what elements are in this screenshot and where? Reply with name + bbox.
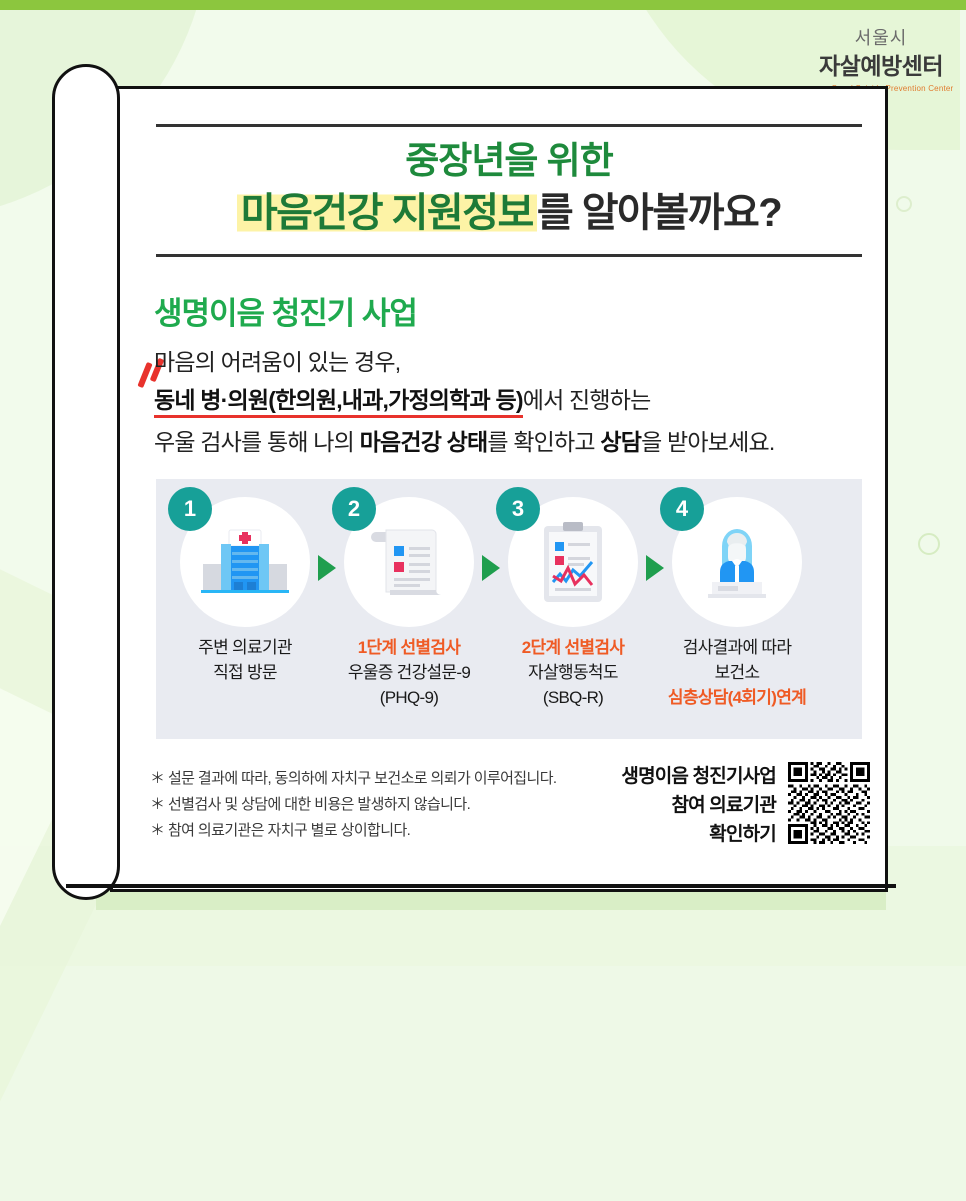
organization-logo: 서울시 자살예방센터 Seoul Suicide Prevention Cent…: [806, 24, 956, 93]
process-step-1: 1 주변 의료기관 직접 방문: [170, 495, 320, 727]
process-step-3: 3 2단계 선별검사 자살행동척도 (SBQ-R): [498, 495, 648, 727]
process-step-2: 2 1단계 선별검사 우울증 건강설문-9 (PHQ-9): [334, 495, 484, 727]
top-green-bar: [0, 0, 966, 10]
step-arrow-3-icon: [646, 555, 664, 581]
step-arrow-1-icon: [318, 555, 336, 581]
title-line-2: 마음건강 지원정보를 알아볼까요?: [156, 187, 862, 239]
process-step-4: 4 검사결과에 따라 보건소 심층상담(4회기)연계: [662, 495, 812, 727]
body-line-3-d: 상담: [600, 429, 641, 455]
step-2-caption: 1단계 선별검사 우울증 건강설문-9 (PHQ-9): [324, 635, 494, 710]
title-tail: 를 알아볼까요?: [537, 191, 781, 235]
footnote-2: ＊ 선별검사 및 상담에 대한 비용은 발생하지 않습니다.: [150, 792, 556, 818]
step-3-caption: 2단계 선별검사 자살행동척도 (SBQ-R): [488, 635, 658, 710]
step-3-caption-line-1: 2단계 선별검사: [488, 635, 658, 660]
step-2-caption-line-3: (PHQ-9): [324, 685, 494, 710]
step-4-caption-line-3: 심층상담(4회기)연계: [652, 685, 822, 710]
step-4-caption-line-2: 보건소: [652, 660, 822, 685]
body-line-2-strong: 동네 병·의원(한의원,내과,가정의학과 등): [154, 387, 523, 418]
footnote-1: ＊ 설문 결과에 따라, 동의하에 자치구 보건소로 의뢰가 이루어집니다.: [150, 766, 556, 792]
infographic-poster: 서울시 자살예방센터 Seoul Suicide Prevention Cent…: [0, 0, 966, 966]
title-rule-top: [156, 124, 862, 127]
step-4-caption-line-1: 검사결과에 따라: [652, 635, 822, 660]
step-4-number: 4: [660, 487, 704, 531]
step-1-number: 1: [168, 487, 212, 531]
title-rule-bottom: [156, 254, 862, 257]
body-line-3-a: 우울 검사를 통해 나의: [154, 429, 360, 455]
step-arrow-2-icon: [482, 555, 500, 581]
page-title: 중장년을 위한 마음건강 지원정보를 알아볼까요?: [156, 137, 862, 239]
qr-section[interactable]: 생명이음 청진기사업 참여 의료기관 확인하기: [600, 762, 870, 849]
process-steps-panel: 1 주변 의료기관 직접 방문: [156, 479, 862, 739]
title-highlight: 마음건강 지원정보: [237, 191, 537, 235]
bottom-rule: [66, 884, 896, 888]
body-line-3: 우울 검사를 통해 나의 마음건강 상태를 확인하고 상담을 받아보세요.: [154, 423, 774, 457]
footnotes: ＊ 설문 결과에 따라, 동의하에 자치구 보건소로 의뢰가 이루어집니다. ＊…: [150, 766, 556, 844]
body-line-2-rest: 에서 진행하는: [523, 387, 651, 413]
step-3-caption-line-3: (SBQ-R): [488, 685, 658, 710]
qr-label-line-3: 확인하기: [621, 820, 776, 849]
decorative-circle-icon: [918, 533, 940, 555]
footnote-3: ＊ 참여 의료기관은 자치구 별로 상이합니다.: [150, 818, 556, 844]
step-3-caption-line-2: 자살행동척도: [488, 660, 658, 685]
step-3-number: 3: [496, 487, 540, 531]
scroll-spine: [52, 64, 120, 900]
qr-code-icon[interactable]: [788, 762, 870, 844]
step-4-caption: 검사결과에 따라 보건소 심층상담(4회기)연계: [652, 635, 822, 710]
program-heading: 생명이음 청진기 사업: [154, 288, 417, 333]
body-line-1: 마음의 어려움이 있는 경우,: [154, 343, 400, 377]
step-2-number: 2: [332, 487, 376, 531]
qr-label: 생명이음 청진기사업 참여 의료기관 확인하기: [621, 762, 776, 849]
step-2-caption-line-2: 우울증 건강설문-9: [324, 660, 494, 685]
decorative-circle-2-icon: [896, 196, 912, 212]
body-line-3-e: 을 받아보세요.: [641, 429, 774, 455]
qr-label-line-2: 참여 의료기관: [621, 791, 776, 820]
step-1-caption-line-2: 직접 방문: [160, 660, 330, 685]
logo-line-2: 자살예방센터: [806, 47, 956, 81]
title-line-1: 중장년을 위한: [156, 137, 862, 185]
body-line-3-b: 마음건강 상태: [360, 429, 488, 455]
step-2-caption-line-1: 1단계 선별검사: [324, 635, 494, 660]
step-1-caption: 주변 의료기관 직접 방문: [160, 635, 330, 685]
body-line-3-c: 를 확인하고: [487, 429, 600, 455]
step-1-caption-line-1: 주변 의료기관: [160, 635, 330, 660]
body-line-2: 동네 병·의원(한의원,내과,가정의학과 등)에서 진행하는: [154, 381, 650, 415]
qr-label-line-1: 생명이음 청진기사업: [621, 762, 776, 791]
